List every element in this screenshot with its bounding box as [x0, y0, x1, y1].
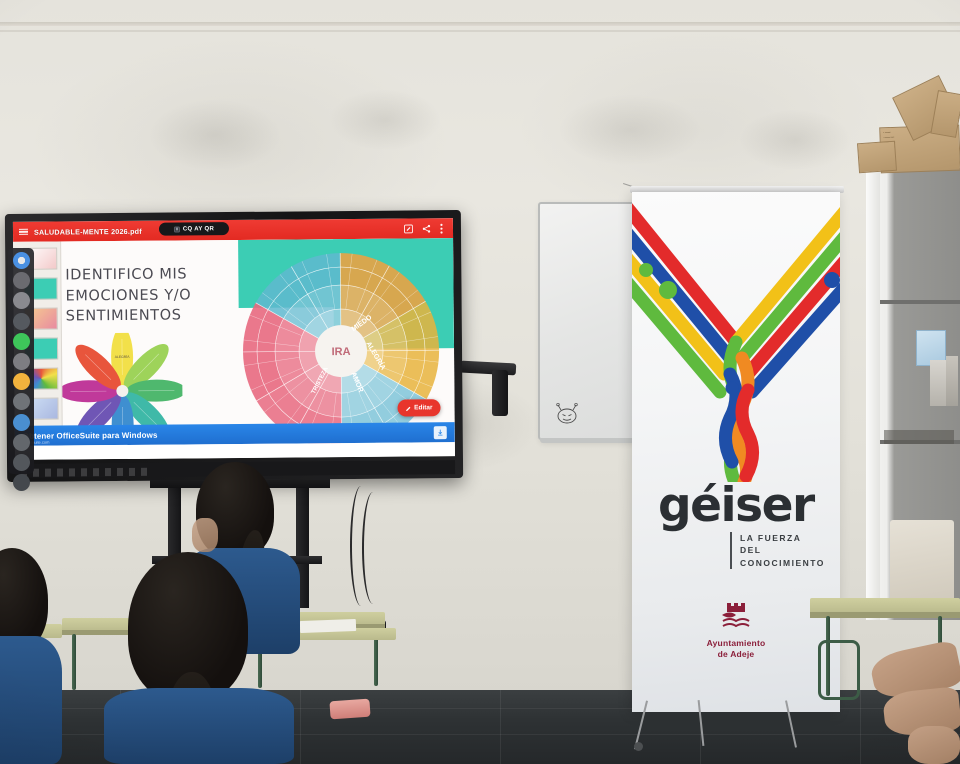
- wall-smudge: [560, 95, 700, 165]
- shelf-bag: [890, 520, 954, 608]
- hamburger-menu-icon[interactable]: [19, 228, 28, 235]
- cardboard-box: [857, 141, 897, 174]
- edit-button[interactable]: Editar: [397, 399, 441, 416]
- gallery-icon[interactable]: [13, 353, 30, 370]
- tagline-line-1: LA FUERZA: [740, 533, 801, 543]
- paper-sheet: [300, 619, 356, 633]
- banner-leg-foot: [634, 742, 643, 751]
- wall-smudge: [150, 100, 280, 170]
- android-app-dock[interactable]: [8, 248, 34, 474]
- logo-dot: [824, 272, 840, 288]
- notch-label: CQ AY QR: [183, 226, 214, 232]
- pdf-toolbar-actions: [404, 223, 447, 234]
- cabinet-edge: [866, 168, 880, 620]
- logo-dot: [639, 263, 653, 277]
- ceiling-molding: [0, 22, 960, 26]
- camera-notch: CQ AY QR: [159, 222, 229, 236]
- student-neck: [192, 518, 218, 552]
- wheel-center-label: IRA: [332, 346, 351, 358]
- pdf-slide[interactable]: IRA MIEDO ALEGRÍA AMOR TRISTEZA 1 2: [13, 238, 455, 460]
- cabinet-shelf: [880, 300, 960, 304]
- pencil-icon: [405, 405, 411, 411]
- geiser-y-ribbon-logo: [632, 192, 840, 482]
- apps-icon[interactable]: [13, 454, 30, 471]
- shelf-book: [946, 356, 958, 406]
- annotate-icon[interactable]: [404, 224, 413, 233]
- pdf-filename: SALUDABLE-MENTE 2026.pdf: [34, 226, 142, 236]
- student-uniform: [104, 688, 294, 764]
- download-icon[interactable]: [434, 426, 447, 439]
- adeje-coat-of-arms-icon: [719, 600, 753, 634]
- whiteboard: [538, 202, 640, 440]
- settings-icon[interactable]: [13, 292, 30, 309]
- display-control-buttons[interactable]: [21, 468, 151, 477]
- geiser-wordmark: géiser: [658, 482, 828, 529]
- display-screen[interactable]: SALUDABLE-MENTE 2026.pdf: [13, 218, 455, 460]
- whiteboard-tray: [540, 438, 642, 443]
- student-uniform: [0, 636, 62, 764]
- notes-icon[interactable]: [13, 434, 30, 451]
- edit-button-label: Editar: [414, 404, 432, 411]
- desk-leg: [72, 634, 76, 690]
- camera-icon: [174, 226, 180, 232]
- adeje-line-1: Ayuntamiento: [707, 638, 766, 648]
- share-icon[interactable]: [422, 224, 431, 233]
- adeje-sponsor-text: Ayuntamiento de Adeje: [632, 638, 840, 661]
- slide-heading: IDENTIFICO MIS EMOCIONES Y/O SENTIMIENTO…: [65, 264, 242, 327]
- calendar-icon[interactable]: [13, 414, 30, 431]
- heading-line-1: IDENTIFICO MIS: [65, 266, 187, 283]
- logo-dot: [659, 281, 677, 299]
- ceiling-molding-shadow: [0, 30, 960, 32]
- more-icon[interactable]: [13, 474, 30, 491]
- petal-label-alegria: ALEGRÍA: [115, 355, 130, 359]
- heading-line-2: EMOCIONES Y/O: [65, 287, 191, 304]
- chair: [818, 640, 860, 700]
- tagline-line-2: DEL CONOCIMIENTO: [740, 545, 825, 567]
- mail-icon[interactable]: [13, 393, 30, 410]
- slide-bottom-strip: [15, 442, 455, 460]
- shelf-shadow: [884, 430, 954, 444]
- student-leg: [908, 726, 960, 764]
- pencil-case: [329, 699, 370, 720]
- geiser-roll-up-banner: géiser LA FUERZA DEL CONOCIMIENTO Ayunta…: [632, 192, 840, 712]
- interactive-display[interactable]: SALUDABLE-MENTE 2026.pdf: [5, 210, 463, 482]
- browser-icon[interactable]: [13, 373, 30, 390]
- overflow-menu-icon[interactable]: [440, 223, 443, 234]
- camera-icon[interactable]: [13, 313, 30, 330]
- wall-smudge: [740, 110, 850, 170]
- files-icon[interactable]: [13, 272, 30, 289]
- logo-dot: [726, 382, 739, 395]
- whatsapp-icon[interactable]: [13, 333, 30, 350]
- adeje-line-2: de Adeje: [718, 649, 755, 659]
- heading-line-3: SENTIMIENTOS: [66, 308, 182, 325]
- alien-face-doodle: [554, 402, 580, 424]
- shelf-book: [930, 360, 946, 406]
- power-cable: [362, 492, 384, 604]
- wall-smudge: [330, 90, 440, 150]
- chrome-icon[interactable]: [13, 252, 30, 269]
- classroom-scene: ▪ ▪▪▪▪▪▪▪ ▪▪▪▪▪ ▪▪▪▪▪ ▪▪▪▪ ▪▪▪▪▪▪▪ ▪▪▪▪▪…: [0, 0, 960, 764]
- geiser-tagline: LA FUERZA DEL CONOCIMIENTO: [730, 532, 840, 569]
- tv-wall-mount-joint: [492, 370, 508, 416]
